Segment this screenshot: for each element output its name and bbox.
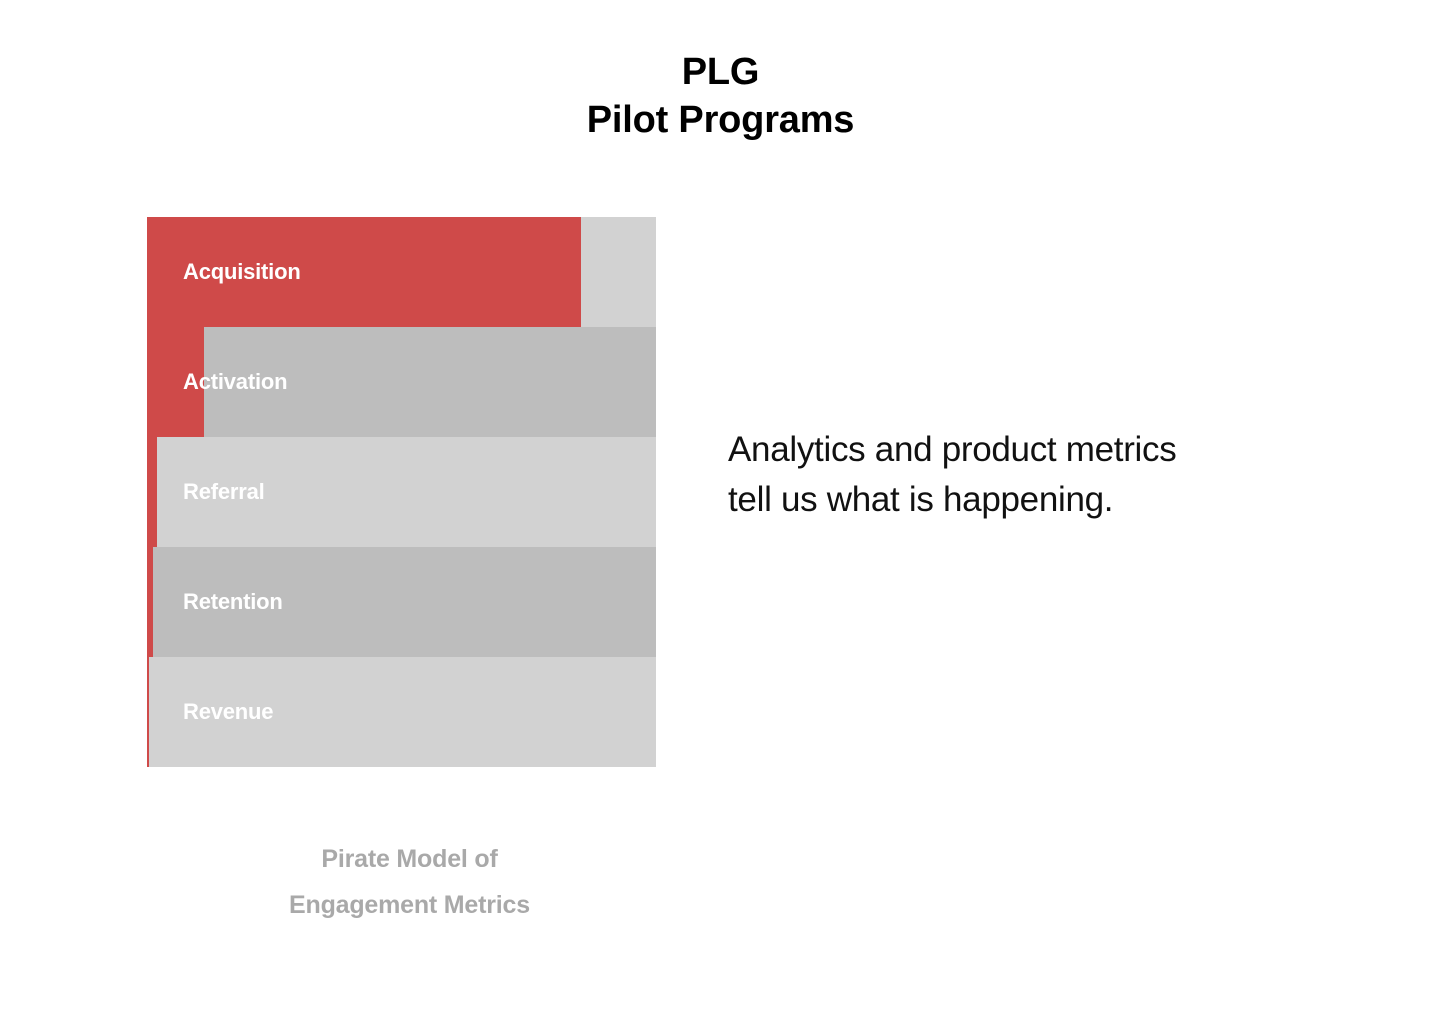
funnel-stage-label-retention: Retention xyxy=(183,589,283,615)
funnel-stage-label-revenue: Revenue xyxy=(183,699,273,725)
funnel-stage-referral[interactable]: Referral xyxy=(157,437,656,547)
funnel-stage-label-acquisition: Acquisition xyxy=(183,259,301,285)
funnel-stage-revenue[interactable]: Revenue xyxy=(149,657,656,767)
body-copy: Analytics and product metrics tell us wh… xyxy=(728,425,1388,525)
funnel-stage-acquisition[interactable]: Acquisition xyxy=(147,217,656,327)
pirate-funnel-diagram: Acquisition Activation Referral Retentio… xyxy=(147,217,656,767)
funnel-stage-retention[interactable]: Retention xyxy=(153,547,656,657)
acquisition-progress-fill: Acquisition xyxy=(147,217,581,327)
funnel-stage-label-referral: Referral xyxy=(183,479,265,505)
wedge-segment-3 xyxy=(147,437,157,547)
funnel-stage-activation[interactable]: Activation xyxy=(204,327,656,437)
page-title: PLG Pilot Programs xyxy=(0,48,1441,144)
funnel-stage-label-activation: Activation xyxy=(183,369,287,395)
funnel-caption: Pirate Model of Engagement Metrics xyxy=(147,836,672,928)
